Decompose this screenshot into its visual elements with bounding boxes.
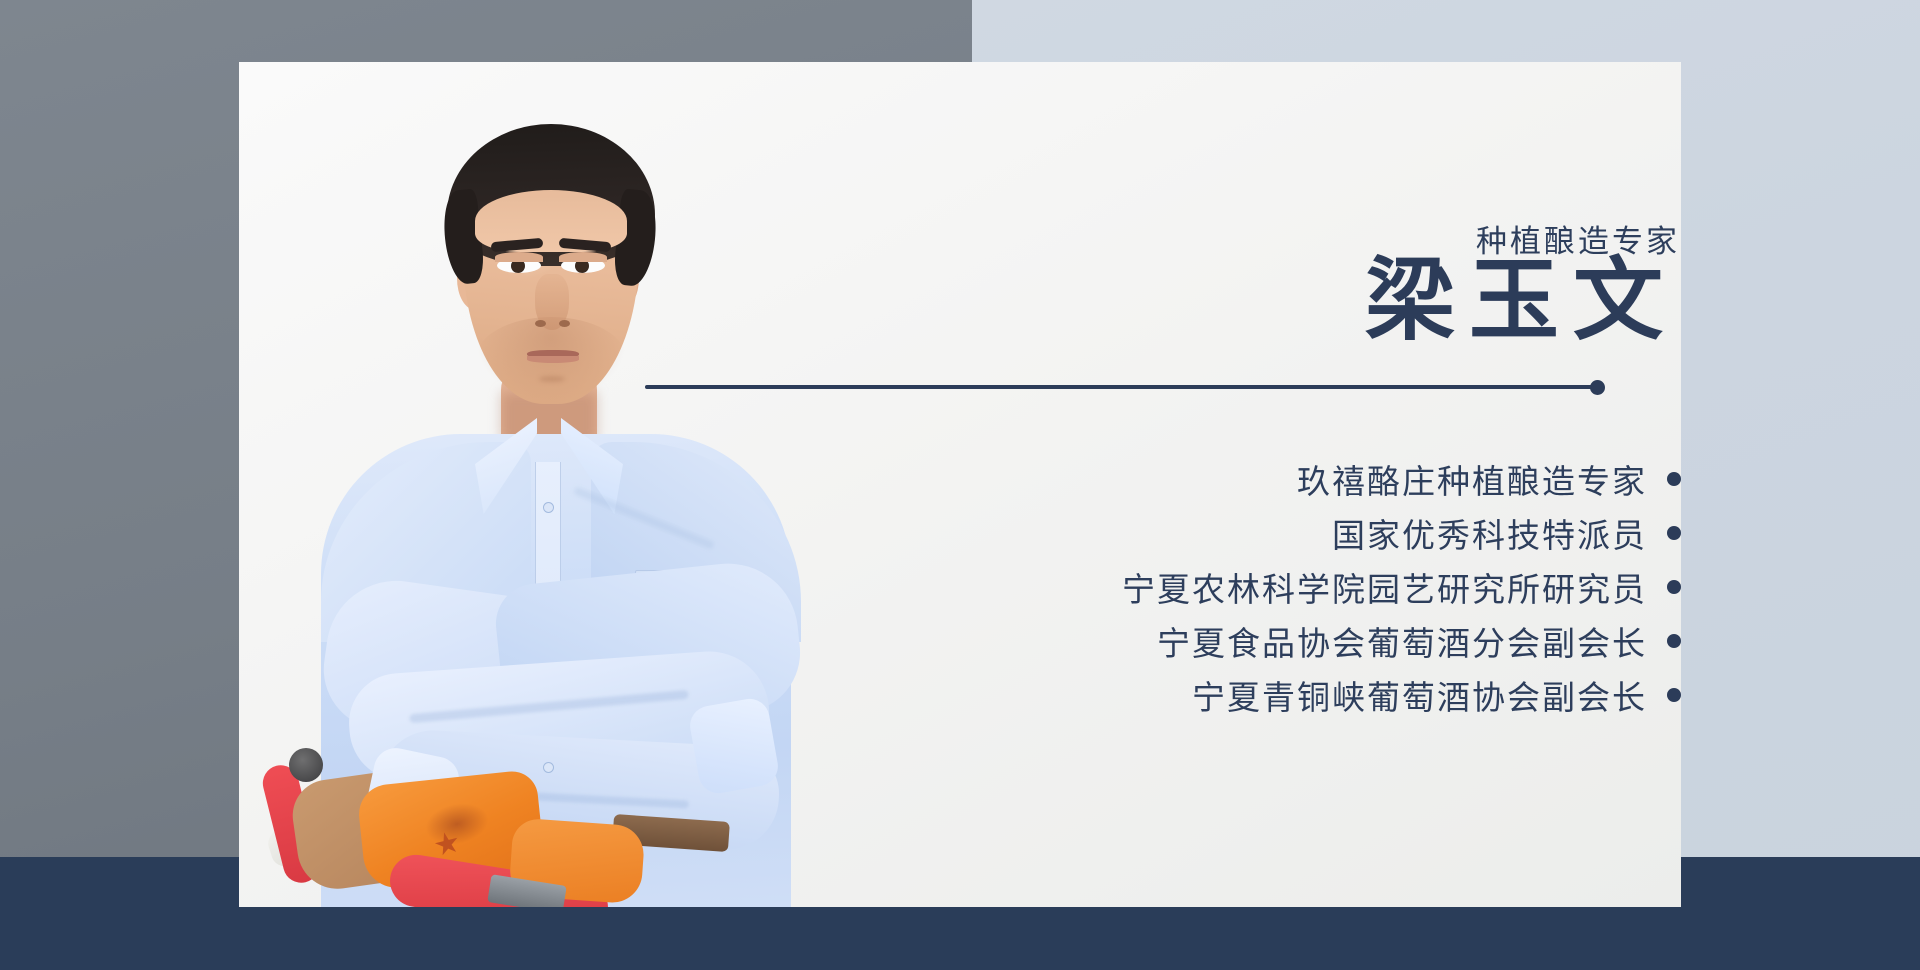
list-item: 玖禧酪庄种植酿造专家 — [779, 452, 1681, 506]
list-item: 国家优秀科技特派员 — [779, 506, 1681, 560]
credential-text: 宁夏青铜峡葡萄酒协会副会长 — [1192, 671, 1647, 719]
bullet-dot-icon — [1667, 526, 1681, 540]
credential-list: 玖禧酪庄种植酿造专家 国家优秀科技特派员 宁夏农林科学院园艺研究所研究员 宁夏食… — [779, 452, 1681, 722]
subtitle-container: 种植酿造专家 — [1119, 62, 1681, 282]
portrait-eyelid-left — [495, 252, 543, 262]
portrait-shirt-button — [543, 502, 554, 513]
portrait-nostril-right — [559, 320, 570, 327]
portrait-shirt-button — [543, 762, 554, 773]
credential-text: 国家优秀科技特派员 — [1332, 509, 1647, 557]
bullet-dot-icon — [1667, 472, 1681, 486]
divider-line — [645, 385, 1593, 389]
divider — [645, 380, 1605, 394]
profile-card: 种植酿造专家 梁玉文 玖禧酪庄种植酿造专家 国家优秀科技特派员 宁夏农林科学院园… — [239, 62, 1681, 907]
portrait-cuff-right — [687, 696, 781, 797]
bullet-dot-icon — [1667, 634, 1681, 648]
pruning-shear-pivot — [289, 748, 323, 782]
bullet-dot-icon — [1667, 688, 1681, 702]
list-item: 宁夏青铜峡葡萄酒协会副会长 — [779, 668, 1681, 722]
bullet-dot-icon — [1667, 580, 1681, 594]
poster-canvas: 种植酿造专家 梁玉文 玖禧酪庄种植酿造专家 国家优秀科技特派员 宁夏农林科学院园… — [0, 0, 1920, 970]
profile-name: 梁玉文 — [1119, 257, 1681, 347]
portrait-nostril-left — [535, 320, 546, 327]
credential-text: 宁夏食品协会葡萄酒分会副会长 — [1157, 617, 1647, 665]
portrait-chin-crease — [539, 376, 565, 382]
portrait-eyelid-right — [559, 252, 607, 262]
portrait-lower-lip — [527, 356, 579, 363]
credential-text: 宁夏农林科学院园艺研究所研究员 — [1122, 563, 1647, 611]
credential-text: 玖禧酪庄种植酿造专家 — [1297, 455, 1647, 503]
list-item: 宁夏农林科学院园艺研究所研究员 — [779, 560, 1681, 614]
divider-end-dot-icon — [1590, 380, 1605, 395]
list-item: 宁夏食品协会葡萄酒分会副会长 — [779, 614, 1681, 668]
portrait-photo — [239, 62, 859, 907]
